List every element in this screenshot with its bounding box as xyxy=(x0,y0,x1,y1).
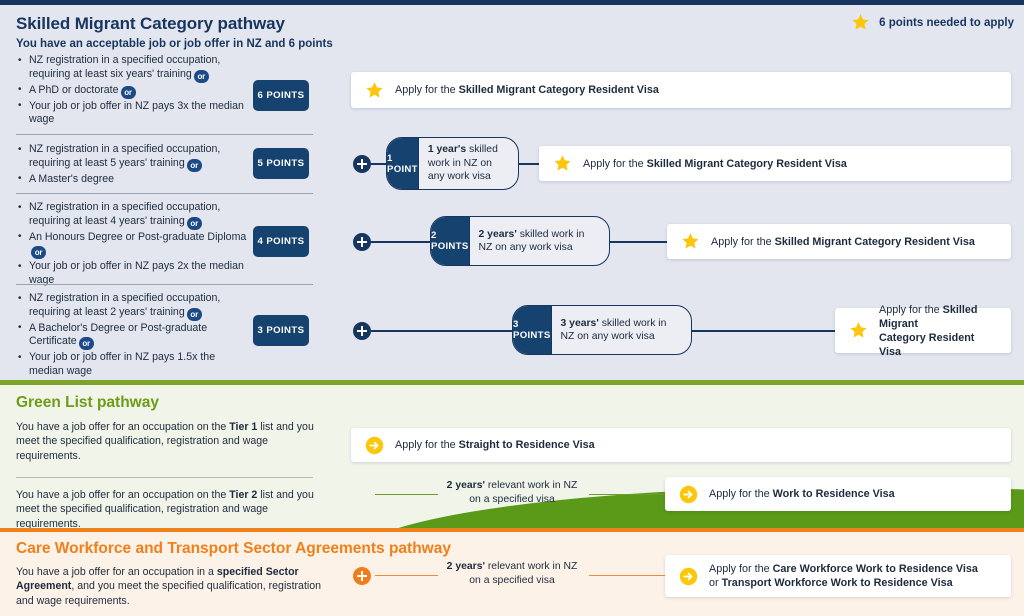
or-badge: or xyxy=(31,246,46,259)
star-icon xyxy=(851,13,870,32)
card-prefix: Apply for the xyxy=(395,439,459,451)
star-icon xyxy=(365,81,384,100)
pill-points-label: 3 POINTS xyxy=(513,306,551,354)
card-visa-name: Care Workforce Work to Residence Visa xyxy=(773,563,978,575)
pill-requirement-text: 3 years' skilled work in NZ on any work … xyxy=(551,306,691,354)
card-prefix: Apply for the xyxy=(583,158,647,170)
green-tier2-text: You have a job offer for an occupation o… xyxy=(16,488,332,531)
list-item: A PhD or doctorateor xyxy=(16,84,248,99)
green-requirement-label: 2 years' relevant work in NZon a specifi… xyxy=(436,479,588,506)
pill-requirement-text: 2 years' skilled work in NZ on any work … xyxy=(469,217,609,265)
connector-line xyxy=(589,494,666,495)
outcome-card-text: Apply for the Skilled MigrantCategory Re… xyxy=(879,303,997,359)
list-item: A Bachelor's Degree or Post-graduate Cer… xyxy=(16,322,248,351)
list-item: Your job or job offer in NZ pays 1.5x th… xyxy=(16,351,248,378)
care-section-title: Care Workforce and Transport Sector Agre… xyxy=(16,540,451,558)
requirement-rest: relevant work in NZ xyxy=(485,480,577,491)
outcome-card-text: Apply for the Skilled Migrant Category R… xyxy=(395,83,659,97)
outcome-card-text: Apply for the Care Workforce Work to Res… xyxy=(709,562,978,590)
divider xyxy=(16,477,313,478)
pill-points-label: 2 POINTS xyxy=(431,217,469,265)
requirement-line2: on a specified visa xyxy=(469,494,554,505)
connector-line xyxy=(589,575,666,576)
list-item: NZ registration in a specified occupatio… xyxy=(16,54,248,83)
outcome-card-text: Apply for the Straight to Residence Visa xyxy=(395,438,595,452)
points-badge-4: 4 POINTS xyxy=(253,226,309,257)
green-tier1-text: You have a job offer for an occupation o… xyxy=(16,420,332,463)
card-visa-name: Skilled Migrant Category Resident Visa xyxy=(459,84,659,96)
card-prefix: Apply for the xyxy=(711,236,775,248)
requirement-pill-3-points[interactable]: 3 POINTS 3 years' skilled work in NZ on … xyxy=(512,305,692,355)
arrow-right-circle-icon xyxy=(679,485,698,504)
card-prefix: Apply for the xyxy=(395,84,459,96)
star-icon xyxy=(849,321,868,340)
star-icon xyxy=(553,154,572,173)
card-prefix: Apply for the xyxy=(709,488,773,500)
star-icon xyxy=(681,232,700,251)
criteria-text: A Bachelor's Degree or Post-graduate Cer… xyxy=(29,322,207,348)
pill-requirement-text: 1 year's skilled work in NZ on any work … xyxy=(418,138,518,189)
criteria-text: Your job or job offer in NZ pays 2x the … xyxy=(29,260,244,286)
connector-line xyxy=(371,163,387,165)
card-prefix: Apply for the xyxy=(879,304,943,316)
criteria-text: A PhD or doctorate xyxy=(29,84,119,96)
divider xyxy=(16,284,313,285)
or-badge: or xyxy=(79,337,94,350)
requirement-duration: 2 years' xyxy=(447,561,485,572)
requirement-duration: 2 years' xyxy=(447,480,485,491)
arrow-right-circle-icon xyxy=(365,436,384,455)
pill-points-label: 1 POINT xyxy=(387,138,418,189)
card-visa-name: Straight to Residence Visa xyxy=(459,439,595,451)
pill-duration: 3 years' xyxy=(561,318,599,329)
connector-line xyxy=(609,241,668,243)
smc-section: Skilled Migrant Category pathway You hav… xyxy=(0,5,1024,380)
connector-line xyxy=(371,241,431,243)
criteria-text: NZ registration in a specified occupatio… xyxy=(29,54,220,80)
connector-line xyxy=(375,575,438,576)
or-badge: or xyxy=(187,308,202,321)
requirement-pill-2-points[interactable]: 2 POINTS 2 years' skilled work in NZ on … xyxy=(430,216,610,266)
divider xyxy=(16,193,313,194)
outcome-card-work-to-residence[interactable]: Apply for the Work to Residence Visa xyxy=(665,477,1011,511)
points-badge-3: 3 POINTS xyxy=(253,315,309,346)
list-item: A Master's degree xyxy=(16,173,248,187)
criteria-list: NZ registration in a specified occupatio… xyxy=(16,54,248,127)
legend: 6 points needed to apply xyxy=(851,13,1014,32)
criteria-text: Your job or job offer in NZ pays 3x the … xyxy=(29,100,244,126)
smc-subtitle: You have an acceptable job or job offer … xyxy=(16,38,333,50)
list-item: An Honours Degree or Post-graduate Diplo… xyxy=(16,231,248,260)
green-section-title: Green List pathway xyxy=(16,394,159,412)
outcome-card-text: Apply for the Work to Residence Visa xyxy=(709,487,895,501)
outcome-card-1-point[interactable]: Apply for the Skilled Migrant Category R… xyxy=(539,146,1011,181)
criteria-list: NZ registration in a specified occupatio… xyxy=(16,292,248,378)
text-part: You have a job offer for an occupation o… xyxy=(16,489,229,501)
points-badge-5: 5 POINTS xyxy=(253,148,309,179)
arrow-right-circle-icon xyxy=(679,567,698,586)
plus-icon xyxy=(353,155,371,173)
pill-duration: 2 years' xyxy=(479,229,517,240)
outcome-card-care-transport[interactable]: Apply for the Care Workforce Work to Res… xyxy=(665,555,1011,597)
list-item: Your job or job offer in NZ pays 3x the … xyxy=(16,100,248,127)
care-transport-section: Care Workforce and Transport Sector Agre… xyxy=(0,532,1024,616)
text-part: You have a job offer for an occupation i… xyxy=(16,566,217,578)
outcome-card-2-points[interactable]: Apply for the Skilled Migrant Category R… xyxy=(667,224,1011,259)
page-title: Skilled Migrant Category pathway xyxy=(16,14,285,34)
card-visa-name-line2: Category Resident Visa xyxy=(879,332,974,358)
plus-icon xyxy=(353,567,371,585)
or-badge: or xyxy=(194,70,209,83)
list-item: NZ registration in a specified occupatio… xyxy=(16,201,248,230)
outcome-card-straight-to-residence[interactable]: Apply for the Straight to Residence Visa xyxy=(351,428,1011,462)
list-item: NZ registration in a specified occupatio… xyxy=(16,143,248,172)
card-or: or xyxy=(709,577,722,589)
outcome-card-text: Apply for the Skilled Migrant Category R… xyxy=(583,157,847,171)
requirement-rest: relevant work in NZ xyxy=(485,561,577,572)
requirement-pill-1-point[interactable]: 1 POINT 1 year's skilled work in NZ on a… xyxy=(386,137,519,190)
infographic-root: Skilled Migrant Category pathway You hav… xyxy=(0,0,1024,616)
or-badge: or xyxy=(187,159,202,172)
tier-label: Tier 2 xyxy=(229,489,257,501)
list-item: NZ registration in a specified occupatio… xyxy=(16,292,248,321)
card-visa-name: Work to Residence Visa xyxy=(773,488,895,500)
connector-line xyxy=(371,330,514,332)
or-badge: or xyxy=(121,86,136,99)
points-badge-6: 6 POINTS xyxy=(253,80,309,111)
criteria-list: NZ registration in a specified occupatio… xyxy=(16,143,248,186)
plus-icon xyxy=(353,233,371,251)
outcome-card-3-points[interactable]: Apply for the Skilled MigrantCategory Re… xyxy=(835,308,1011,353)
green-list-section: Green List pathway You have a job offer … xyxy=(0,385,1024,528)
criteria-text: An Honours Degree or Post-graduate Diplo… xyxy=(29,231,246,243)
criteria-list: NZ registration in a specified occupatio… xyxy=(16,201,248,287)
divider xyxy=(16,134,313,135)
card-prefix: Apply for the xyxy=(709,563,773,575)
care-requirement-text: You have a job offer for an occupation i… xyxy=(16,565,326,608)
outcome-card-6-points[interactable]: Apply for the Skilled Migrant Category R… xyxy=(351,72,1011,108)
or-badge: or xyxy=(187,217,202,230)
text-part: You have a job offer for an occupation o… xyxy=(16,421,229,433)
card-visa-name-alt: Transport Workforce Work to Residence Vi… xyxy=(722,577,953,589)
care-duration-label: 2 years' relevant work in NZon a specifi… xyxy=(436,560,588,587)
card-visa-name: Skilled Migrant Category Resident Visa xyxy=(647,158,847,170)
card-visa-name: Skilled Migrant Category Resident Visa xyxy=(775,236,975,248)
legend-label: 6 points needed to apply xyxy=(879,17,1014,29)
criteria-text: Your job or job offer in NZ pays 1.5x th… xyxy=(29,351,215,377)
outcome-card-text: Apply for the Skilled Migrant Category R… xyxy=(711,235,975,249)
plus-icon xyxy=(353,322,371,340)
pill-duration: 1 year's xyxy=(428,144,466,155)
tier-label: Tier 1 xyxy=(229,421,257,433)
requirement-line2: on a specified visa xyxy=(469,575,554,586)
connector-line xyxy=(518,163,540,165)
connector-line xyxy=(691,330,838,332)
connector-line xyxy=(375,494,438,495)
criteria-text: A Master's degree xyxy=(29,173,114,185)
